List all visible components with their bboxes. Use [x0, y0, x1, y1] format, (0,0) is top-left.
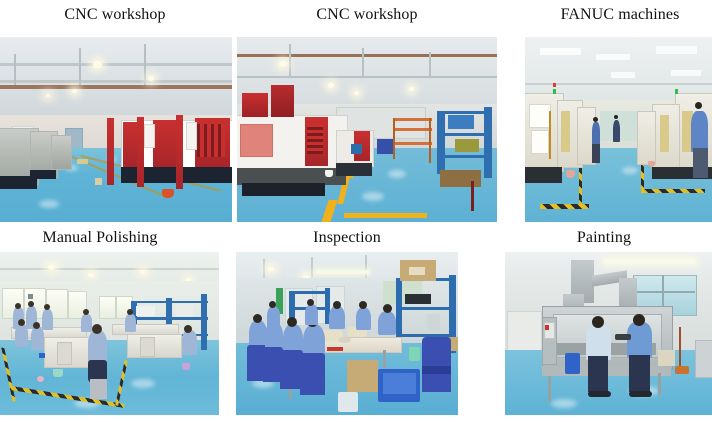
- caption-painting: Painting: [504, 229, 704, 247]
- gallery-page: CNC workshop CNC workshop FANUC machines: [0, 0, 712, 422]
- photo-manual-polishing[interactable]: [0, 252, 219, 415]
- photo-painting[interactable]: [505, 252, 712, 415]
- caption-manual-polishing: Manual Polishing: [0, 229, 200, 247]
- photo-cnc-workshop-1[interactable]: [0, 37, 232, 222]
- photo-cnc-workshop-2[interactable]: [237, 37, 497, 222]
- caption-cnc-workshop-2: CNC workshop: [267, 6, 467, 24]
- caption-cnc-workshop-1: CNC workshop: [15, 6, 215, 24]
- photo-fanuc-machines[interactable]: [525, 37, 712, 222]
- photo-inspection[interactable]: [236, 252, 458, 415]
- caption-fanuc-machines: FANUC machines: [520, 6, 712, 24]
- caption-inspection: Inspection: [247, 229, 447, 247]
